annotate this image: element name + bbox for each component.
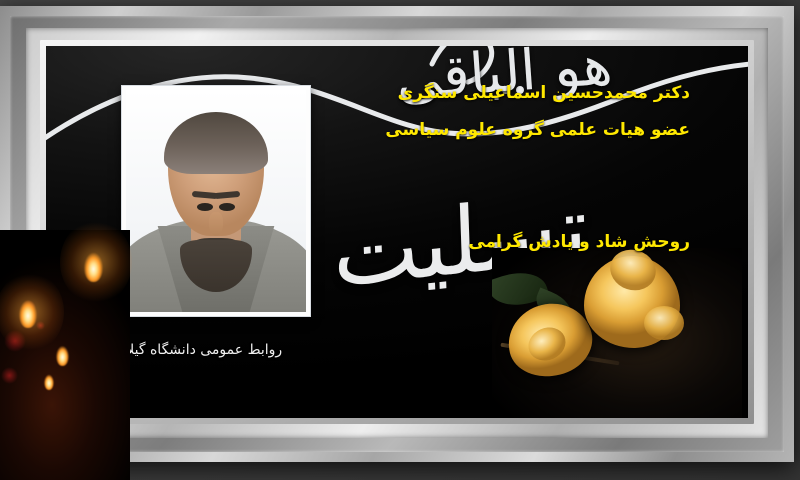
portrait-eye-left — [219, 203, 235, 211]
portrait-eyebrow-right — [192, 191, 218, 199]
rose-petal — [644, 306, 684, 340]
portrait-nose — [209, 212, 223, 236]
issuer-signature: روابط عمومی دانشگاه گیلان — [116, 342, 282, 358]
condolence-poster: هو الباقی تسلیت — [0, 0, 800, 480]
portrait-photo — [122, 86, 310, 316]
memorial-wish-line: روحش شاد و یادش گرامی — [468, 232, 690, 252]
portrait-eye-right — [197, 203, 213, 211]
picture-frame-outer: هو الباقی تسلیت — [0, 6, 794, 462]
portrait-photo-inner — [126, 90, 306, 312]
deceased-info-block: دکتر محمدحسین اسماعیلی سنگری عضو هیات عل… — [385, 84, 690, 157]
mourning-card-canvas: هو الباقی تسلیت — [46, 46, 748, 418]
portrait-hair — [164, 112, 268, 174]
deceased-title: عضو هیات علمی گروه علوم سیاسی — [385, 121, 690, 140]
deceased-name: دکتر محمدحسین اسماعیلی سنگری — [385, 84, 690, 103]
roses-decoration — [492, 248, 742, 418]
